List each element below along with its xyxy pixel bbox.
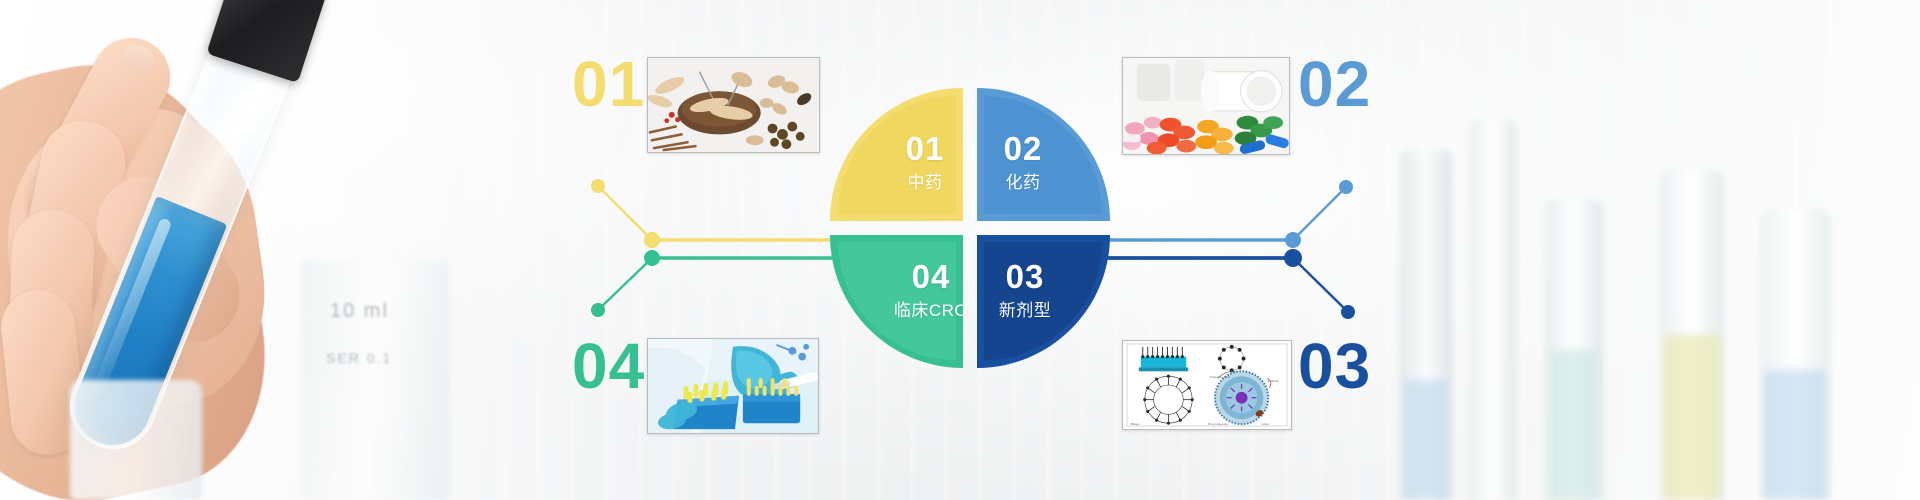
pie-label-04: 04 临床CRO <box>886 260 976 319</box>
svg-text:Bilayer: Bilayer <box>1131 422 1140 426</box>
pie-label-04-text: 临床CRO <box>886 302 976 319</box>
liposome-diagram-image: Protective shell Antibody Drug molecules… <box>1123 341 1291 429</box>
banner-stage: 10 ml SER 0.1 <box>0 0 1920 500</box>
glassware-liquid-3 <box>1664 335 1720 500</box>
pie-label-01: 01 中药 <box>886 132 964 191</box>
svg-text:Linker: Linker <box>1261 422 1269 426</box>
pie-label-03-text: 新剂型 <box>980 302 1070 319</box>
pie-label-04-number: 04 <box>886 260 976 293</box>
herbs-image <box>648 58 819 152</box>
fingernail <box>118 39 160 78</box>
pie-label-02: 02 化药 <box>984 132 1062 191</box>
cylinder-mark-volume: 10 ml <box>330 300 389 323</box>
pie-label-02-text: 化药 <box>984 174 1062 191</box>
pie-label-03: 03 新剂型 <box>980 260 1070 319</box>
thumbnail-pills-and-bottle[interactable] <box>1122 57 1290 155</box>
hand-holding-test-tube: 10 ml SER 0.1 <box>0 0 620 500</box>
pills-image <box>1123 58 1289 154</box>
four-segment-pie-chart: 01 中药 02 化药 04 临床CRO 03 新剂型 <box>830 88 1110 368</box>
glassware-tube-2 <box>1470 120 1516 500</box>
outer-number-03: 03 <box>1298 334 1371 398</box>
pie-label-03-number: 03 <box>980 260 1070 293</box>
svg-text:Drug molecules: Drug molecules <box>1208 422 1229 426</box>
lab-pipette-image <box>648 339 818 433</box>
outer-number-04: 04 <box>572 334 645 398</box>
svg-text:Antibody: Antibody <box>1267 379 1279 383</box>
thumbnail-chinese-herbal-medicine[interactable] <box>647 57 820 153</box>
glassware-liquid-2 <box>1550 350 1598 500</box>
pie-label-01-number: 01 <box>886 132 964 165</box>
svg-text:Protective shell: Protective shell <box>1210 375 1230 379</box>
glassware-liquid-1 <box>1404 380 1448 500</box>
graduated-cylinder <box>300 260 450 500</box>
pie-label-01-text: 中药 <box>886 174 964 191</box>
outer-number-02: 02 <box>1298 52 1371 116</box>
thumbnail-liposome-diagram[interactable]: Protective shell Antibody Drug molecules… <box>1122 340 1292 430</box>
pie-label-02-number: 02 <box>984 132 1062 165</box>
cylinder-mark-serial: SER 0.1 <box>326 350 392 366</box>
sample-vial <box>70 380 202 500</box>
glassware-liquid-4 <box>1764 370 1826 500</box>
thumbnail-lab-pipette[interactable] <box>647 338 819 434</box>
outer-number-01: 01 <box>572 52 645 116</box>
